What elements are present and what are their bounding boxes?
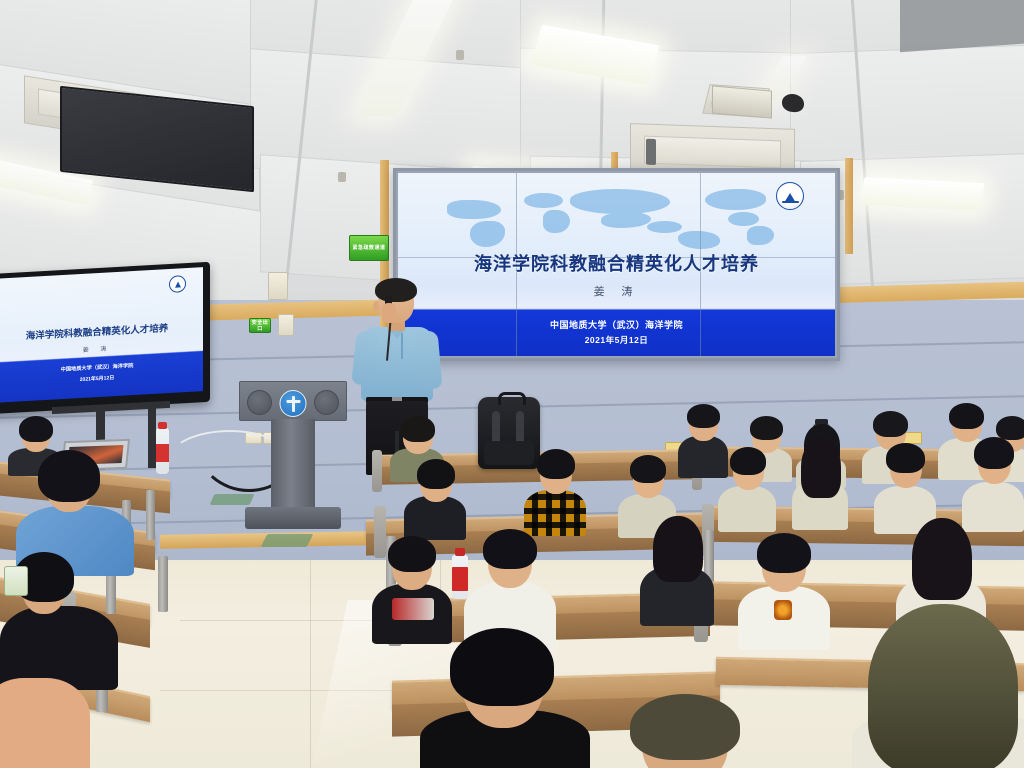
floor-mat [261, 534, 314, 547]
water-bottle-aisle [156, 428, 169, 474]
podium-top [239, 381, 347, 421]
ceiling-open-tile [900, 0, 1024, 52]
wall-vertical-trim [845, 158, 853, 254]
university-logo-icon-small [169, 276, 186, 294]
podium-knob-left [247, 390, 272, 415]
shirt-emblem [774, 600, 792, 620]
ceiling-projector [712, 85, 772, 118]
audience-person [372, 540, 452, 640]
sprinkler-icon [338, 172, 346, 182]
auxiliary-monitor-screen: 海洋学院科教融合精英化人才培养 姜 涛 中国地质大学（武汉）海洋学院 2021年… [0, 267, 203, 403]
audience-person [792, 440, 848, 526]
emergency-exit-sign-screen: 紧急疏散通道 [349, 235, 389, 261]
audience-person-left [0, 632, 90, 768]
auxiliary-monitor[interactable]: 海洋学院科教融合精英化人才培养 姜 涛 中国地质大学（武汉）海洋学院 2021年… [0, 262, 210, 415]
ceiling-camera-icon [782, 93, 804, 113]
slide-presenter-name: 姜 涛 [398, 283, 835, 299]
audience-person-foreground [852, 614, 1024, 768]
emergency-exit-sign: 安全出口 [249, 318, 271, 333]
presenter-hand [382, 303, 396, 323]
audience-person-foreground [420, 636, 590, 768]
shirt-graphic [392, 598, 434, 620]
audience-person [874, 446, 936, 530]
slide-title: 海洋学院科教融合精英化人才培养 [398, 250, 835, 276]
audience-person [404, 462, 466, 538]
led-video-wall[interactable]: 海洋学院科教融合精英化人才培养 姜 涛 中国地质大学（武汉）海洋学院 2021年… [393, 168, 840, 361]
exit-sign-screen-label: 紧急疏散通道 [350, 245, 388, 251]
audience-person [718, 450, 776, 530]
audience-person-foreground [612, 700, 762, 768]
presenter-hair [375, 278, 417, 302]
wall-control-box [268, 272, 288, 300]
wall-control-box [278, 314, 294, 336]
audience-person [738, 538, 830, 648]
sprinkler-icon [456, 50, 464, 60]
desk-leg [146, 490, 155, 540]
podium-base [245, 507, 341, 529]
id-card-lanyard [4, 566, 28, 596]
desk-leg [158, 556, 168, 612]
presenter-arm-right [416, 330, 443, 390]
slide-date: 2021年5月12日 [398, 334, 835, 346]
presentation-slide: 海洋学院科教融合精英化人才培养 姜 涛 中国地质大学（武汉）海洋学院 2021年… [398, 173, 835, 356]
podium[interactable] [239, 381, 347, 536]
presenter-ear [373, 301, 379, 311]
floor-mat [210, 494, 255, 505]
lecture-hall-photo: 安全出口 紧急疏散通道 [0, 0, 1024, 768]
audience-person [640, 520, 714, 624]
podium-column [271, 419, 315, 511]
podium-university-logo-icon [280, 390, 307, 417]
slide-organization: 中国地质大学（武汉）海洋学院 [398, 318, 835, 331]
exit-sign-label: 安全出口 [250, 320, 270, 332]
audience-person [962, 440, 1024, 528]
bench-divider [372, 450, 382, 492]
audience-person [524, 452, 586, 532]
podium-knob-right [314, 390, 339, 415]
